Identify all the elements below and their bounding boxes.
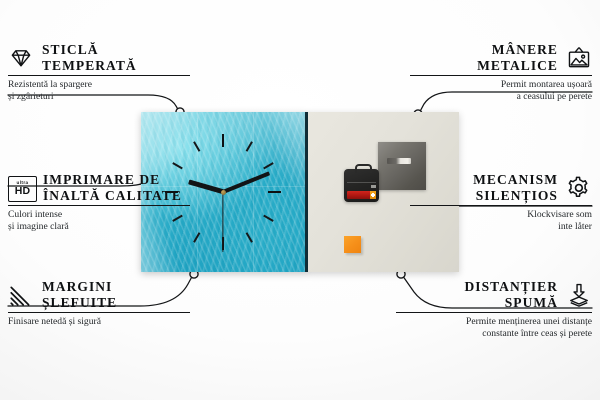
clock-tick-12 xyxy=(222,134,224,192)
callout-title: IMPRIMARE DE ÎNALTĂ CALITATE xyxy=(43,172,182,203)
callout-silent-mechanism: MECANISM SILENȚIOS Klockvisare som inte … xyxy=(400,172,592,232)
callout-rule xyxy=(410,205,592,206)
callout-subtitle: Culori intense și imagine clară xyxy=(8,209,200,232)
clock-tick-3 xyxy=(223,191,281,193)
callout-subtitle: Finisare netedă și sigură xyxy=(8,316,200,328)
callout-title: DISTANȚIER SPUMĂ xyxy=(464,279,558,310)
callout-polished-edges: MARGINI ȘLEFUITE Finisare netedă și sigu… xyxy=(8,279,200,328)
hanger-slot xyxy=(387,158,411,164)
arrow-onto-layers-icon xyxy=(566,282,592,308)
callout-subtitle: Rezistentă la spargere și zgârieturi xyxy=(8,79,200,102)
callout-header: STICLĂ TEMPERATĂ xyxy=(8,42,200,73)
movement-label-chip xyxy=(371,185,376,188)
callout-title: MARGINI ȘLEFUITE xyxy=(42,279,117,310)
callout-subtitle: Permit montarea ușoară a ceasului pe per… xyxy=(400,79,592,102)
callout-rule xyxy=(396,312,592,313)
battery xyxy=(347,191,376,199)
ultra-hd-icon: ultra HD xyxy=(8,176,35,200)
callout-foam-spacer: DISTANȚIER SPUMĂ Permite menținerea unei… xyxy=(386,279,592,339)
ultra-hd-badge-main: HD xyxy=(15,186,31,197)
callout-header: MÂNERE METALICE xyxy=(400,42,592,73)
callout-rule xyxy=(410,75,592,76)
diagonal-lines-icon xyxy=(8,282,34,308)
picture-frame-icon xyxy=(566,45,592,71)
clock-center-cap xyxy=(221,190,226,195)
callout-header: DISTANȚIER SPUMĂ xyxy=(386,279,592,310)
callout-rule xyxy=(8,312,190,313)
callout-title: STICLĂ TEMPERATĂ xyxy=(42,42,137,73)
callout-header: MARGINI ȘLEFUITE xyxy=(8,279,200,310)
foam-spacer-pad xyxy=(344,236,361,253)
movement-seam xyxy=(347,182,376,183)
diamond-icon xyxy=(8,45,34,71)
callout-title: MECANISM SILENȚIOS xyxy=(473,172,558,203)
callout-rule xyxy=(8,205,190,206)
battery-plus-terminal xyxy=(370,191,376,199)
callout-tempered-glass: STICLĂ TEMPERATĂ Rezistentă la spargere … xyxy=(8,42,200,102)
callout-header: MECANISM SILENȚIOS xyxy=(400,172,592,203)
quartz-movement xyxy=(344,169,379,202)
callout-title: MÂNERE METALICE xyxy=(477,42,558,73)
infographic-canvas: STICLĂ TEMPERATĂ Rezistentă la spargere … xyxy=(0,0,600,400)
callout-subtitle: Permite menținerea unei distanțe constan… xyxy=(386,316,592,339)
movement-hanging-loop xyxy=(355,164,372,173)
callout-metal-handles: MÂNERE METALICE Permit montarea ușoară a… xyxy=(400,42,592,102)
callout-high-quality-print: ultra HD IMPRIMARE DE ÎNALTĂ CALITATE Cu… xyxy=(8,172,200,232)
callout-header: ultra HD IMPRIMARE DE ÎNALTĂ CALITATE xyxy=(8,172,200,203)
gear-icon xyxy=(566,175,592,201)
callout-rule xyxy=(8,75,190,76)
callout-subtitle: Klockvisare som inte låter xyxy=(400,209,592,232)
